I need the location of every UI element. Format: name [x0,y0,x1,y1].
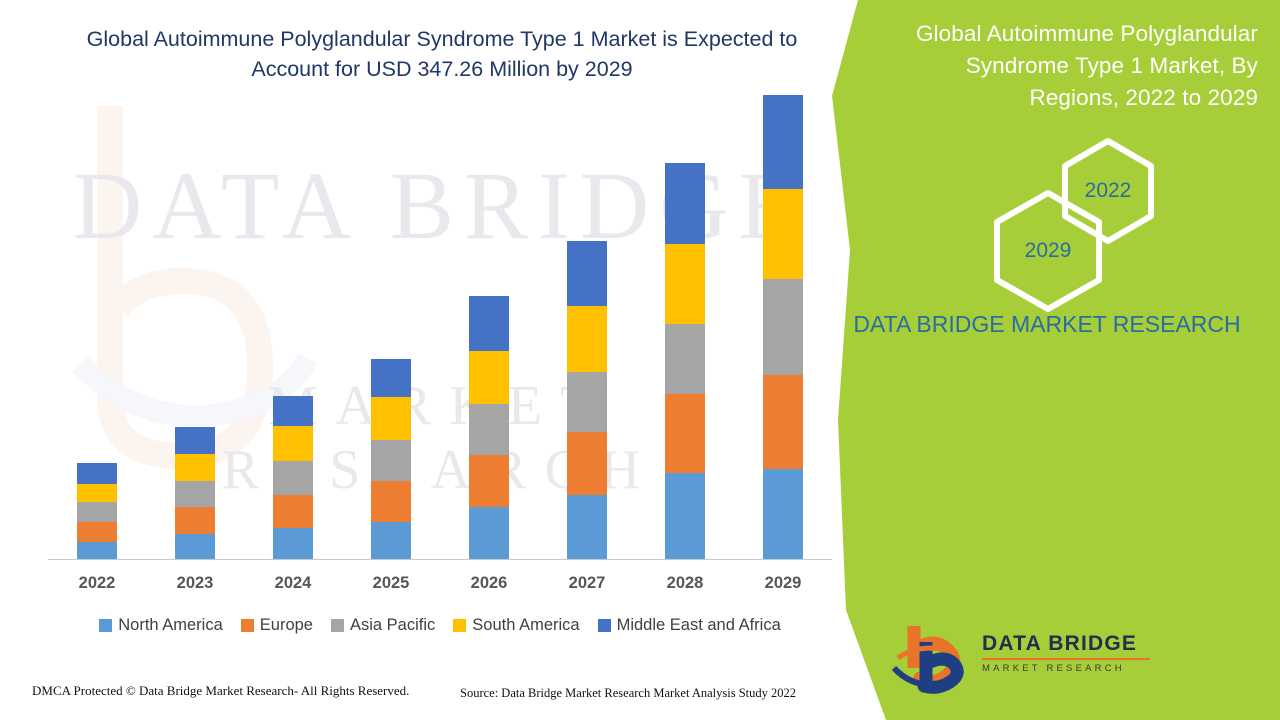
stacked-bar-group [48,96,832,559]
stacked-bar-2024 [273,396,313,559]
legend-item[interactable]: North America [99,616,223,635]
bar-segment [77,522,117,542]
data-bridge-logo-icon [890,620,976,696]
bar-segment [371,481,411,522]
bar-segment [567,306,607,372]
bar-segment [567,372,607,432]
bar-segment [273,495,313,527]
bar-segment [469,455,509,507]
bar-segment [665,324,705,393]
bar-column [734,96,832,559]
footer: DMCA Protected © Data Bridge Market Rese… [0,678,840,720]
stacked-bar-2025 [371,359,411,559]
bar-column [48,96,146,559]
bar-segment [763,189,803,279]
bar-segment [567,495,607,559]
stacked-bar-2029 [763,95,803,559]
legend-item[interactable]: South America [453,616,579,635]
bar-segment [665,244,705,324]
bar-segment [469,404,509,455]
chart-plot-area: DATA BRIDGE MARKET RESEARCH [48,96,832,560]
legend-swatch-icon [331,619,344,632]
hexagon-group: 2022 2029 [982,136,1212,286]
infographic-root: Global Autoimmune Polyglandular Syndrome… [0,0,1280,720]
legend-swatch-icon [99,619,112,632]
stacked-bar-2027 [567,241,607,559]
x-axis-label: 2024 [244,574,342,593]
dmca-notice: DMCA Protected © Data Bridge Market Rese… [32,683,409,699]
bar-column [538,96,636,559]
x-axis-label: 2026 [440,574,538,593]
bar-column [244,96,342,559]
x-axis-label: 2029 [734,574,832,593]
legend-label: North America [118,616,223,635]
legend-item[interactable]: Middle East and Africa [598,616,781,635]
bar-segment [175,534,215,559]
bar-segment [763,279,803,375]
x-axis-line [48,559,832,560]
bar-segment [175,507,215,534]
bar-column [636,96,734,559]
stacked-bar-2023 [175,427,215,559]
bar-segment [77,542,117,559]
bar-segment [763,375,803,469]
hexagon-2022-label: 2022 [1085,179,1132,203]
x-axis-label: 2027 [538,574,636,593]
bar-segment [77,463,117,484]
bar-segment [273,426,313,461]
bar-segment [469,507,509,559]
bar-segment [175,481,215,506]
bar-segment [273,461,313,496]
legend-label: Asia Pacific [350,616,435,635]
bar-segment [371,359,411,397]
company-logo: DATA BRIDGE MARKET RESEARCH [890,620,1150,700]
logo-title: DATA BRIDGE [982,632,1150,656]
bar-segment [567,432,607,496]
hexagon-2029: 2029 [990,188,1106,314]
bar-segment [665,394,705,474]
logo-subtitle: MARKET RESEARCH [982,663,1150,674]
page-title: Global Autoimmune Polyglandular Syndrome… [62,24,822,84]
bar-segment [77,484,117,503]
bar-segment [273,528,313,559]
legend-label: Europe [260,616,313,635]
bar-column [146,96,244,559]
chart-legend: North AmericaEuropeAsia PacificSouth Ame… [48,616,832,635]
bar-segment [567,241,607,306]
x-axis-labels: 20222023202420252026202720282029 [48,574,832,593]
legend-swatch-icon [241,619,254,632]
bar-segment [371,397,411,440]
panel-title: Global Autoimmune Polyglandular Syndrome… [878,18,1258,114]
x-axis-label: 2028 [636,574,734,593]
legend-swatch-icon [598,619,611,632]
stacked-bar-2028 [665,163,705,559]
bar-segment [175,454,215,482]
x-axis-label: 2025 [342,574,440,593]
bar-column [440,96,538,559]
legend-item[interactable]: Asia Pacific [331,616,435,635]
hexagon-2029-label: 2029 [1025,239,1072,263]
legend-label: South America [472,616,579,635]
bar-segment [469,351,509,404]
bar-segment [273,396,313,426]
legend-label: Middle East and Africa [617,616,781,635]
bar-segment [77,502,117,522]
bar-segment [763,95,803,189]
brand-name: DATA BRIDGE MARKET RESEARCH [832,308,1280,341]
bar-segment [469,296,509,350]
stacked-bar-2022 [77,463,117,559]
bar-segment [665,163,705,244]
legend-item[interactable]: Europe [241,616,313,635]
bar-segment [175,427,215,454]
bar-segment [763,469,803,559]
bar-column [342,96,440,559]
source-note: Source: Data Bridge Market Research Mark… [460,686,796,701]
x-axis-label: 2022 [48,574,146,593]
bar-segment [665,473,705,559]
logo-divider [982,658,1150,660]
bar-segment [371,440,411,482]
stacked-bar-2026 [469,296,509,559]
logo-wordmark: DATA BRIDGE MARKET RESEARCH [982,632,1150,674]
x-axis-label: 2023 [146,574,244,593]
legend-swatch-icon [453,619,466,632]
bar-segment [371,522,411,559]
green-side-panel: Global Autoimmune Polyglandular Syndrome… [832,0,1280,720]
